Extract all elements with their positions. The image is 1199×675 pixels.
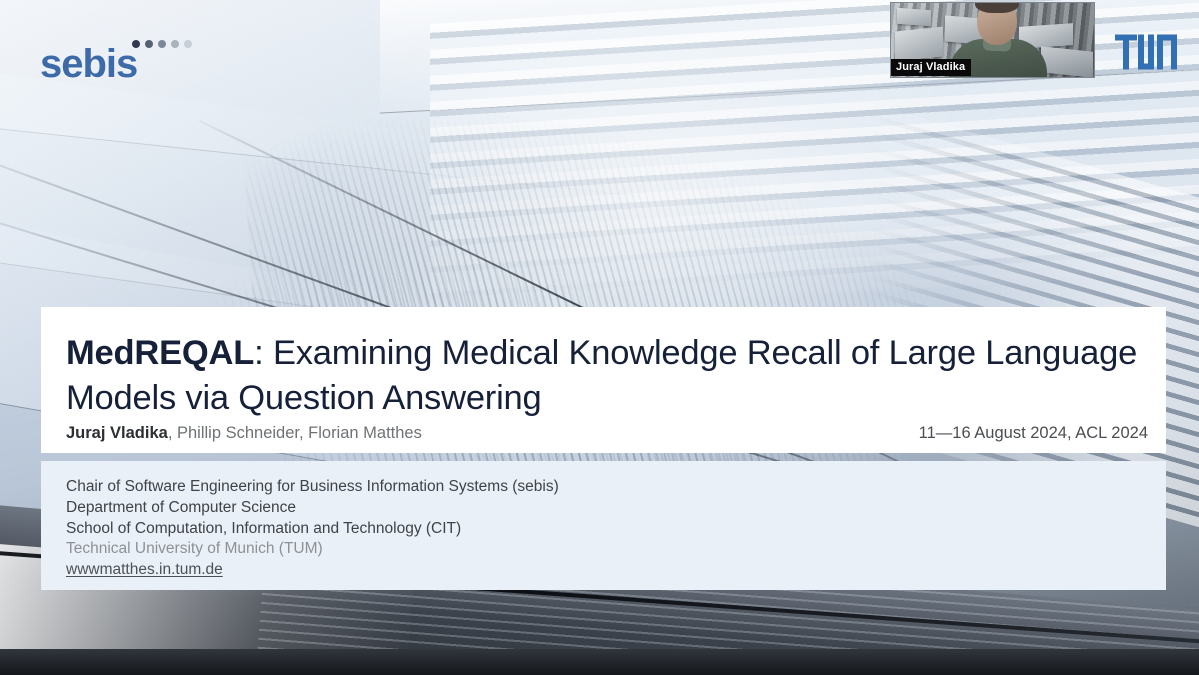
title-card: MedREQAL: Examining Medical Knowledge Re…: [41, 307, 1166, 453]
sebis-wordmark: sebis: [40, 44, 137, 84]
co-authors: , Phillip Schneider, Florian Matthes: [168, 424, 422, 442]
tum-logo-icon: [1115, 34, 1177, 70]
affiliation-website-link[interactable]: wwwmatthes.in.tum.de: [66, 560, 1144, 581]
title-separator: :: [254, 334, 273, 372]
affiliation-line-4: Technical University of Munich (TUM): [66, 539, 1144, 560]
webcam-video-tile[interactable]: Juraj Vladika: [890, 2, 1095, 78]
lead-author: Juraj Vladika: [66, 424, 168, 442]
author-list: Juraj Vladika, Phillip Schneider, Floria…: [66, 424, 422, 443]
title-highlight: MedREQAL: [66, 334, 254, 372]
sebis-dots-icon: [132, 40, 192, 48]
affiliation-line-2: Department of Computer Science: [66, 498, 1144, 519]
byline: Juraj Vladika, Phillip Schneider, Floria…: [66, 424, 1148, 443]
presentation-slide: sebis: [0, 0, 1199, 675]
affiliation-card: Chair of Software Engineering for Busine…: [41, 461, 1166, 590]
event-date: 11—16 August 2024, ACL 2024: [919, 424, 1148, 443]
webcam-participant-name-label: Juraj Vladika: [891, 59, 971, 76]
affiliation-line-3: School of Computation, Information and T…: [66, 519, 1144, 540]
sebis-logo: sebis: [40, 34, 190, 86]
page-title: MedREQAL: Examining Medical Knowledge Re…: [66, 331, 1144, 421]
affiliation-line-1: Chair of Software Engineering for Busine…: [66, 477, 1144, 498]
